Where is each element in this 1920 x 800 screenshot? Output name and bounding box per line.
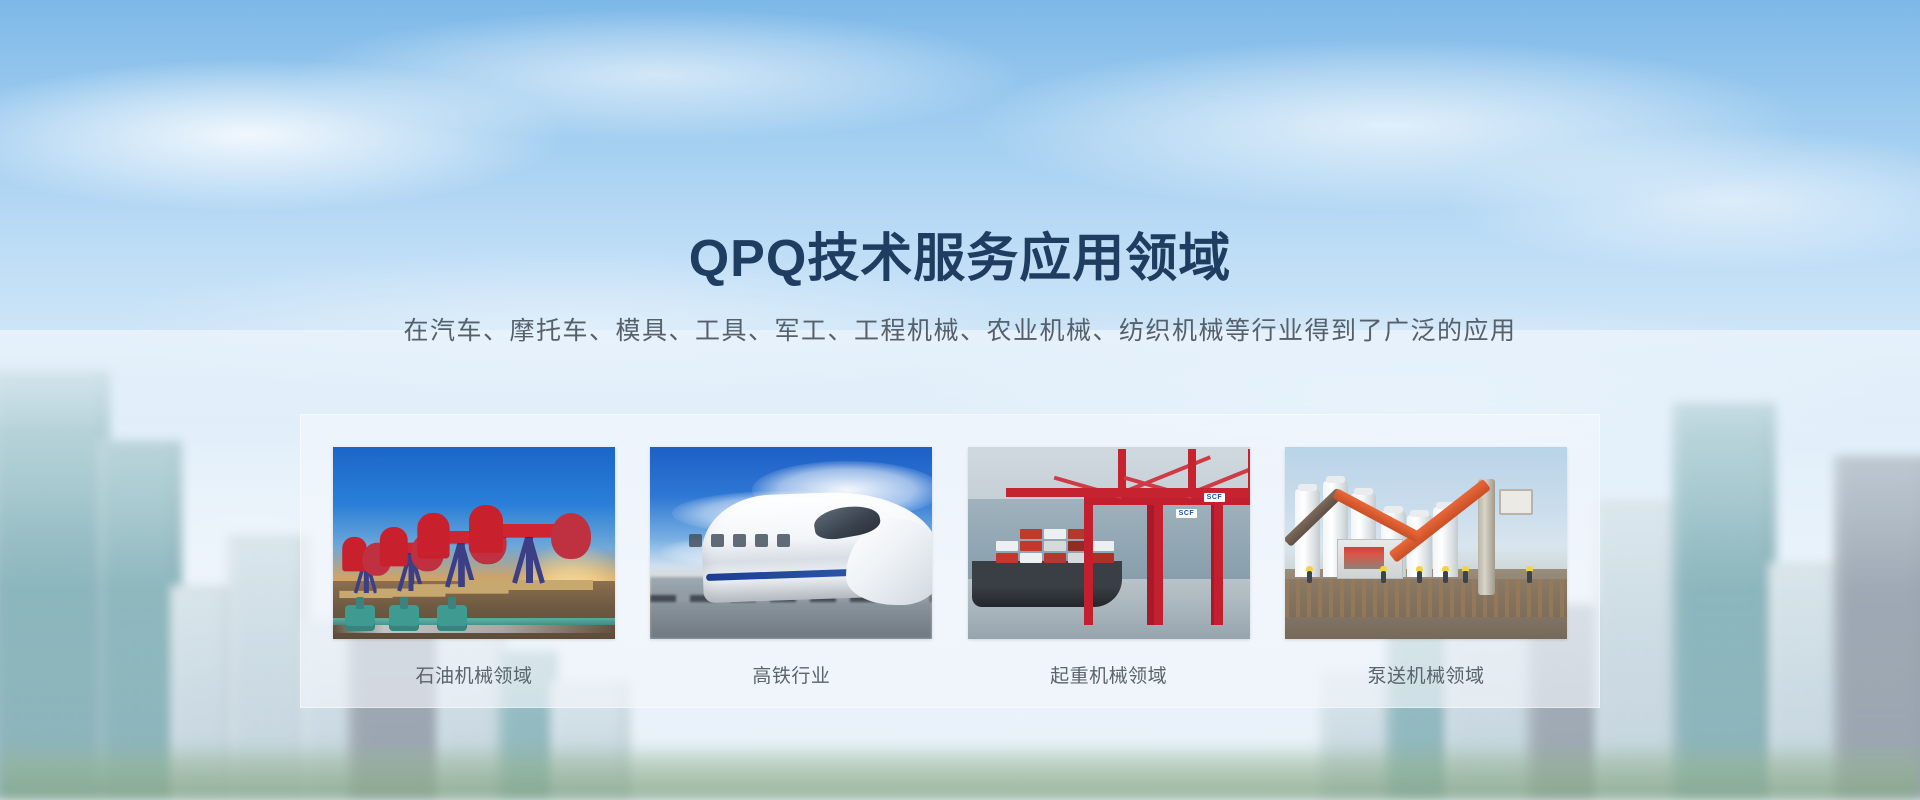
- train-window: [755, 534, 768, 547]
- worker: [1443, 571, 1448, 583]
- card-caption: 泵送机械领域: [1367, 661, 1484, 688]
- shipping-container: [1092, 553, 1114, 563]
- construction-deck: [1285, 569, 1567, 639]
- application-card-crane[interactable]: SCF SCF 起重机械领域: [968, 447, 1250, 707]
- page-subtitle: 在汽车、摩托车、模具、工具、军工、工程机械、农业机械、纺织机械等行业得到了广泛的…: [0, 311, 1920, 347]
- card-caption: 起重机械领域: [1050, 661, 1167, 688]
- worker: [1417, 571, 1422, 583]
- worker: [1381, 571, 1386, 583]
- high-speed-train-photo[interactable]: [650, 447, 932, 639]
- shipping-container: [1044, 553, 1066, 563]
- wellhead-valve: [437, 605, 467, 631]
- scf-logo: SCF: [1204, 493, 1226, 502]
- shipping-container: [1020, 553, 1042, 563]
- oil-pumpjacks-photo[interactable]: [333, 447, 615, 639]
- application-card-pump[interactable]: 泵送机械领域: [1285, 447, 1567, 707]
- pipeline: [333, 618, 615, 625]
- worker: [1307, 571, 1312, 583]
- shipping-container: [996, 553, 1018, 563]
- wellhead-valve: [345, 605, 375, 631]
- hero-heading-group: QPQ技术服务应用领域 在汽车、摩托车、模具、工具、军工、工程机械、农业机械、纺…: [0, 0, 1920, 347]
- card-caption: 石油机械领域: [415, 661, 532, 688]
- shipping-container: [1044, 529, 1066, 539]
- shipping-container: [1092, 541, 1114, 551]
- tree-line: [0, 742, 1920, 800]
- shipping-container: [1044, 541, 1066, 551]
- wellhead-valve: [389, 605, 419, 631]
- container-ship: [972, 561, 1122, 607]
- concrete-pump-photo[interactable]: [1285, 447, 1567, 639]
- shipping-container: [1020, 541, 1042, 551]
- card-caption: 高铁行业: [752, 661, 830, 688]
- train-window: [711, 534, 724, 547]
- shipping-container: [1020, 529, 1042, 539]
- worker: [1463, 571, 1468, 583]
- pumpjack-main: [473, 497, 585, 583]
- application-card-oil[interactable]: 石油机械领域: [333, 447, 615, 707]
- application-card-rail[interactable]: 高铁行业: [650, 447, 932, 707]
- application-fields-panel: 石油机械领域: [300, 414, 1600, 708]
- application-card-list: 石油机械领域: [301, 415, 1599, 707]
- shipping-container: [996, 541, 1018, 551]
- train-window: [733, 534, 746, 547]
- scf-logo: SCF: [1176, 509, 1198, 518]
- operator-cab: [1499, 489, 1533, 515]
- port-gantry-cranes-photo[interactable]: SCF SCF: [968, 447, 1250, 639]
- train-window: [777, 534, 790, 547]
- hero-banner: QPQ技术服务应用领域 在汽车、摩托车、模具、工具、军工、工程机械、农业机械、纺…: [0, 0, 1920, 800]
- worker: [1527, 571, 1532, 583]
- site-poster: [1344, 547, 1384, 569]
- page-title: QPQ技术服务应用领域: [0, 232, 1920, 287]
- train-window: [689, 534, 702, 547]
